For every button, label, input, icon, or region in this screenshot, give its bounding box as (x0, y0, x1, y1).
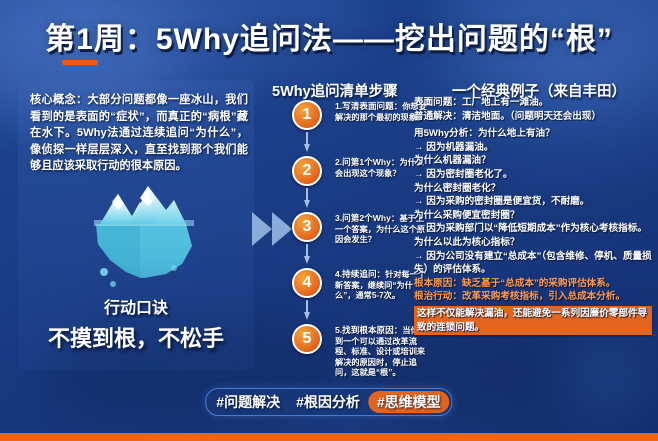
example-line: → 因为密封圈老化了。 (414, 168, 652, 182)
step-title: 3.问第2个Why： (335, 213, 399, 223)
step-number-badge: 4 (292, 268, 322, 298)
hashtag-item[interactable]: #问题解决 (208, 391, 288, 413)
example-body: 表面问题：工厂地上有一滩油。 普通解决：清洁地面。（问题明天还会出现） 用5Wh… (414, 96, 652, 335)
title-underline (62, 60, 98, 65)
example-line: 为什么密封圈老化？ (414, 182, 652, 196)
root-cause-line: 根本原因：缺乏基于“总成本”的采购评估体系。 (414, 277, 652, 291)
step-item: 3 3.问第2个Why：基于上一个答案，为什么这个原因会发生？ (292, 212, 424, 268)
hashtag-item-active[interactable]: #思维模型 (368, 391, 450, 413)
slogan-text: 不摸到根，不松手 (18, 321, 254, 353)
example-line: → 因为采购的密封圈是便宜货，不耐磨。 (414, 195, 652, 209)
slogan-block: 行动口诀 不摸到根，不松手 (18, 294, 254, 353)
slide-canvas: 第1周：5Why追问法——挖出问题的“根” 核心概念：大部分问题都像一座冰山，我… (0, 0, 658, 441)
step-number-badge: 3 (292, 212, 322, 242)
arrow-down-icon (303, 300, 311, 320)
step-item: 5 5.找到根本原因：当你得到一个可以通过改革流程、标准、设计或培训来解决的原因… (292, 324, 424, 380)
step-item: 2 2.问第1个Why：为什么会出现这个现象？ (292, 156, 424, 212)
hashtag-bar: #问题解决 #根因分析 #思维模型 (205, 388, 452, 416)
example-line: 用5Why分析：为什么地上有油？ (414, 127, 652, 141)
step-number-badge: 1 (292, 100, 322, 130)
iceberg-icon (70, 172, 210, 292)
step-title: 4.持续追问： (335, 269, 385, 279)
step-title: 2.问第1个Why： (335, 157, 399, 167)
example-line: 为什么机器漏油？ (414, 154, 652, 168)
step-number-badge: 2 (292, 156, 322, 186)
step-title: 1.写清表面问题： (335, 101, 402, 111)
step-item: 4 4.持续追问：针对每一个新答案，继续问“为什么”，通常5-7次。 (292, 268, 424, 324)
conclusion-callout: 这样不仅能解决漏油，还能避免一系列因廉价零部件导致的连锁问题。 (414, 306, 652, 335)
background-glow (560, 331, 650, 421)
example-line: 为什么采购便宜密封圈？ (414, 209, 652, 223)
slogan-label: 行动口诀 (18, 294, 254, 318)
example-line: → 因为采购部门以“降低短期成本”作为核心考核指标。 (414, 222, 652, 236)
root-fix-line: 根治行动：改革采购考核指标，引入总成本分析。 (414, 290, 652, 304)
step-number-badge: 5 (292, 324, 322, 354)
core-concept-text: 核心概念：大部分问题都像一座冰山，我们看到的是表面的“症状”，而真正的“病根”藏… (30, 92, 248, 175)
example-line: → 因为公司没有建立“总成本”（包含维修、停机、质量损失）的评估体系。 (414, 250, 652, 277)
example-line: 表面问题：工厂地上有一滩油。 (414, 96, 652, 110)
arrow-down-icon (303, 244, 311, 264)
slide-title: 第1周：5Why追问法——挖出问题的“根” (45, 14, 613, 58)
example-line: → 因为机器漏油。 (414, 141, 652, 155)
step-item: 1 1.写清表面问题：你想要解决的那个最初的现象。 (292, 100, 424, 156)
example-line: 为什么以此为核心指标？ (414, 236, 652, 250)
steps-heading: 5Why追问清单步骤 (272, 80, 422, 101)
steps-list: 1 1.写清表面问题：你想要解决的那个最初的现象。 2 2.问第1个Why：为什… (292, 100, 424, 380)
arrow-down-icon (303, 188, 311, 208)
bottom-accent-bar (0, 433, 658, 441)
slide-title-wrap: 第1周：5Why追问法——挖出问题的“根” (0, 14, 658, 58)
step-title: 5.找到根本原因： (335, 325, 402, 335)
hashtag-item[interactable]: #根因分析 (288, 391, 368, 413)
arrow-down-icon (303, 132, 311, 152)
example-line: 普通解决：清洁地面。（问题明天还会出现） (414, 110, 652, 124)
